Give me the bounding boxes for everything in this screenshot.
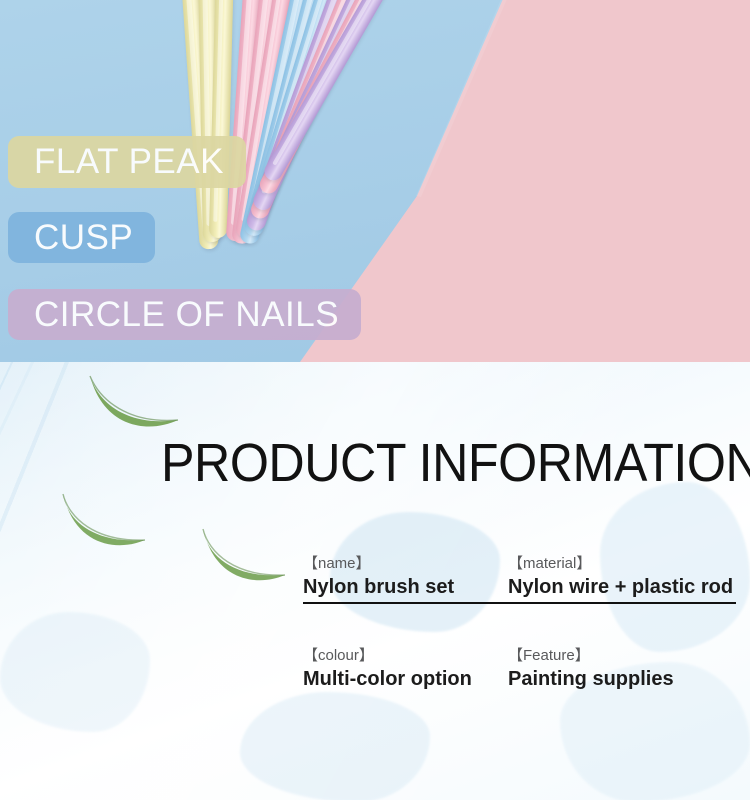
watercolor-blob bbox=[240, 692, 430, 800]
spec-cell-feature: 【Feature】 Painting supplies bbox=[508, 647, 674, 692]
spec-label: 【colour】 bbox=[303, 647, 508, 666]
spec-row: 【name】 Nylon brush set 【material】 Nylon … bbox=[303, 555, 743, 600]
hero-product-photo: FLAT PEAK CUSP CIRCLE OF NAILS bbox=[0, 0, 750, 362]
spec-value: Multi-color option bbox=[303, 666, 508, 692]
spec-divider bbox=[303, 602, 736, 604]
spec-value: Painting supplies bbox=[508, 666, 674, 692]
tag-flat-peak: FLAT PEAK bbox=[8, 136, 246, 188]
tag-circle-of-nails-label: CIRCLE OF NAILS bbox=[34, 295, 339, 335]
spec-label: 【name】 bbox=[303, 555, 508, 574]
spec-label: 【Feature】 bbox=[508, 647, 674, 666]
spec-cell-colour: 【colour】 Multi-color option bbox=[303, 647, 508, 692]
product-spec-table: 【name】 Nylon brush set 【material】 Nylon … bbox=[303, 555, 743, 692]
tag-cusp: CUSP bbox=[8, 212, 155, 263]
spec-cell-material: 【material】 Nylon wire + plastic rod bbox=[508, 555, 733, 600]
spec-value: Nylon brush set bbox=[303, 574, 508, 600]
leaf-icon bbox=[195, 527, 295, 597]
page-title: PRODUCT INFORMATION bbox=[161, 432, 750, 494]
tag-cusp-label: CUSP bbox=[34, 218, 133, 258]
tag-circle-of-nails: CIRCLE OF NAILS bbox=[8, 289, 361, 340]
leaf-icon bbox=[55, 492, 155, 562]
spec-value: Nylon wire + plastic rod bbox=[508, 574, 733, 600]
spec-cell-name: 【name】 Nylon brush set bbox=[303, 555, 508, 600]
spec-row: 【colour】 Multi-color option 【Feature】 Pa… bbox=[303, 647, 743, 692]
tag-flat-peak-label: FLAT PEAK bbox=[34, 142, 224, 182]
spec-label: 【material】 bbox=[508, 555, 733, 574]
